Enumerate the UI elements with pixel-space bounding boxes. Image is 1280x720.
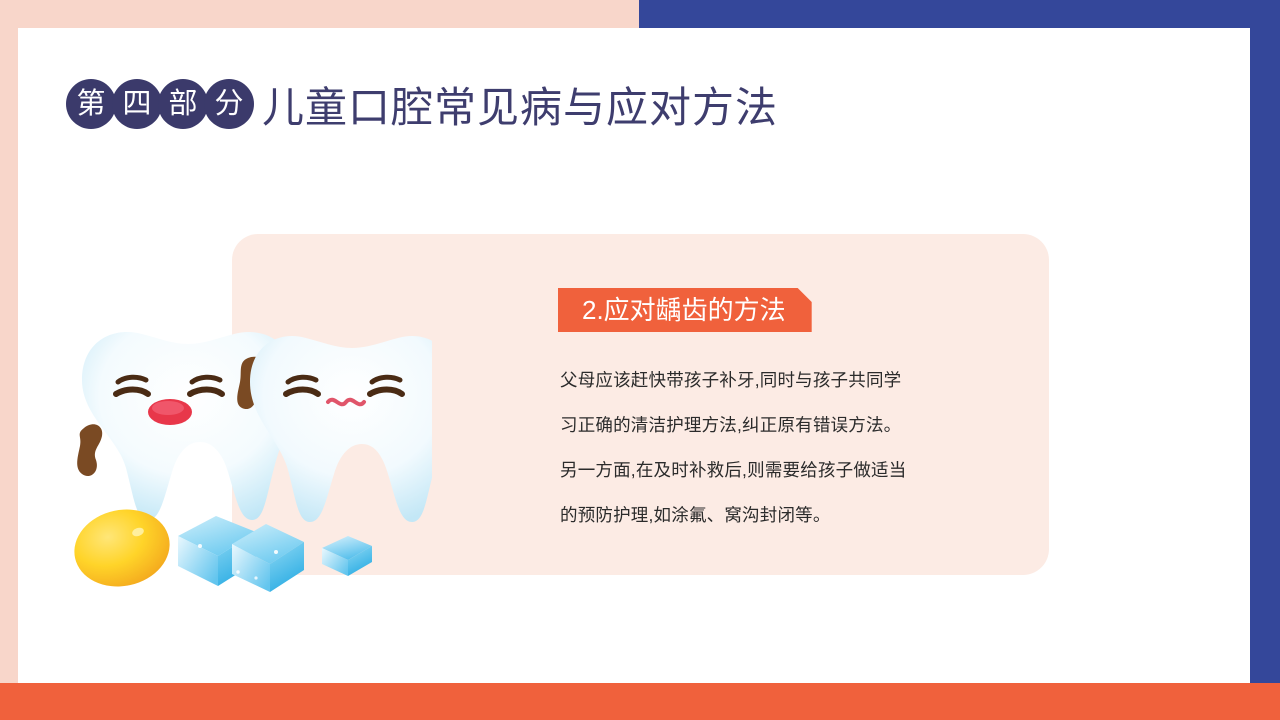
section-badge-group: 第 四 部 分 — [66, 79, 250, 129]
section-badge-4: 分 — [204, 79, 254, 129]
body-paragraph: 父母应该赶快带孩子补牙,同时与孩子共同学 习正确的清洁护理方法,纠正原有错误方法… — [560, 358, 1000, 538]
section-badge-2: 四 — [112, 79, 162, 129]
bottom-orange-band — [0, 683, 1280, 720]
slide-canvas: 第 四 部 分 儿童口腔常见病与应对方法 2.应对龋齿的方法 父母应该赶快带孩子… — [0, 0, 1280, 720]
ice-cubes-icon — [178, 516, 372, 592]
section-heading-banner: 2.应对龋齿的方法 — [558, 288, 812, 332]
body-line-2: 习正确的清洁护理方法,纠正原有错误方法。 — [560, 403, 1000, 448]
lemon-icon — [67, 501, 177, 592]
body-line-3: 另一方面,在及时补救后,则需要给孩子做适当 — [560, 448, 1000, 493]
tooth-illustration — [60, 320, 432, 592]
left-peach-band — [0, 0, 18, 683]
section-badge-1: 第 — [66, 79, 116, 129]
section-badge-3: 部 — [158, 79, 208, 129]
slide-title-row: 第 四 部 分 儿童口腔常见病与应对方法 — [66, 72, 778, 136]
right-navy-band — [1250, 0, 1280, 683]
body-line-4: 的预防护理,如涂氟、窝沟封闭等。 — [560, 493, 1000, 538]
body-line-1: 父母应该赶快带孩子补牙,同时与孩子共同学 — [560, 358, 1000, 403]
top-navy-band — [639, 0, 1280, 28]
sad-tooth-icon — [250, 336, 432, 522]
page-title: 儿童口腔常见病与应对方法 — [262, 74, 778, 135]
top-peach-band — [0, 0, 639, 28]
